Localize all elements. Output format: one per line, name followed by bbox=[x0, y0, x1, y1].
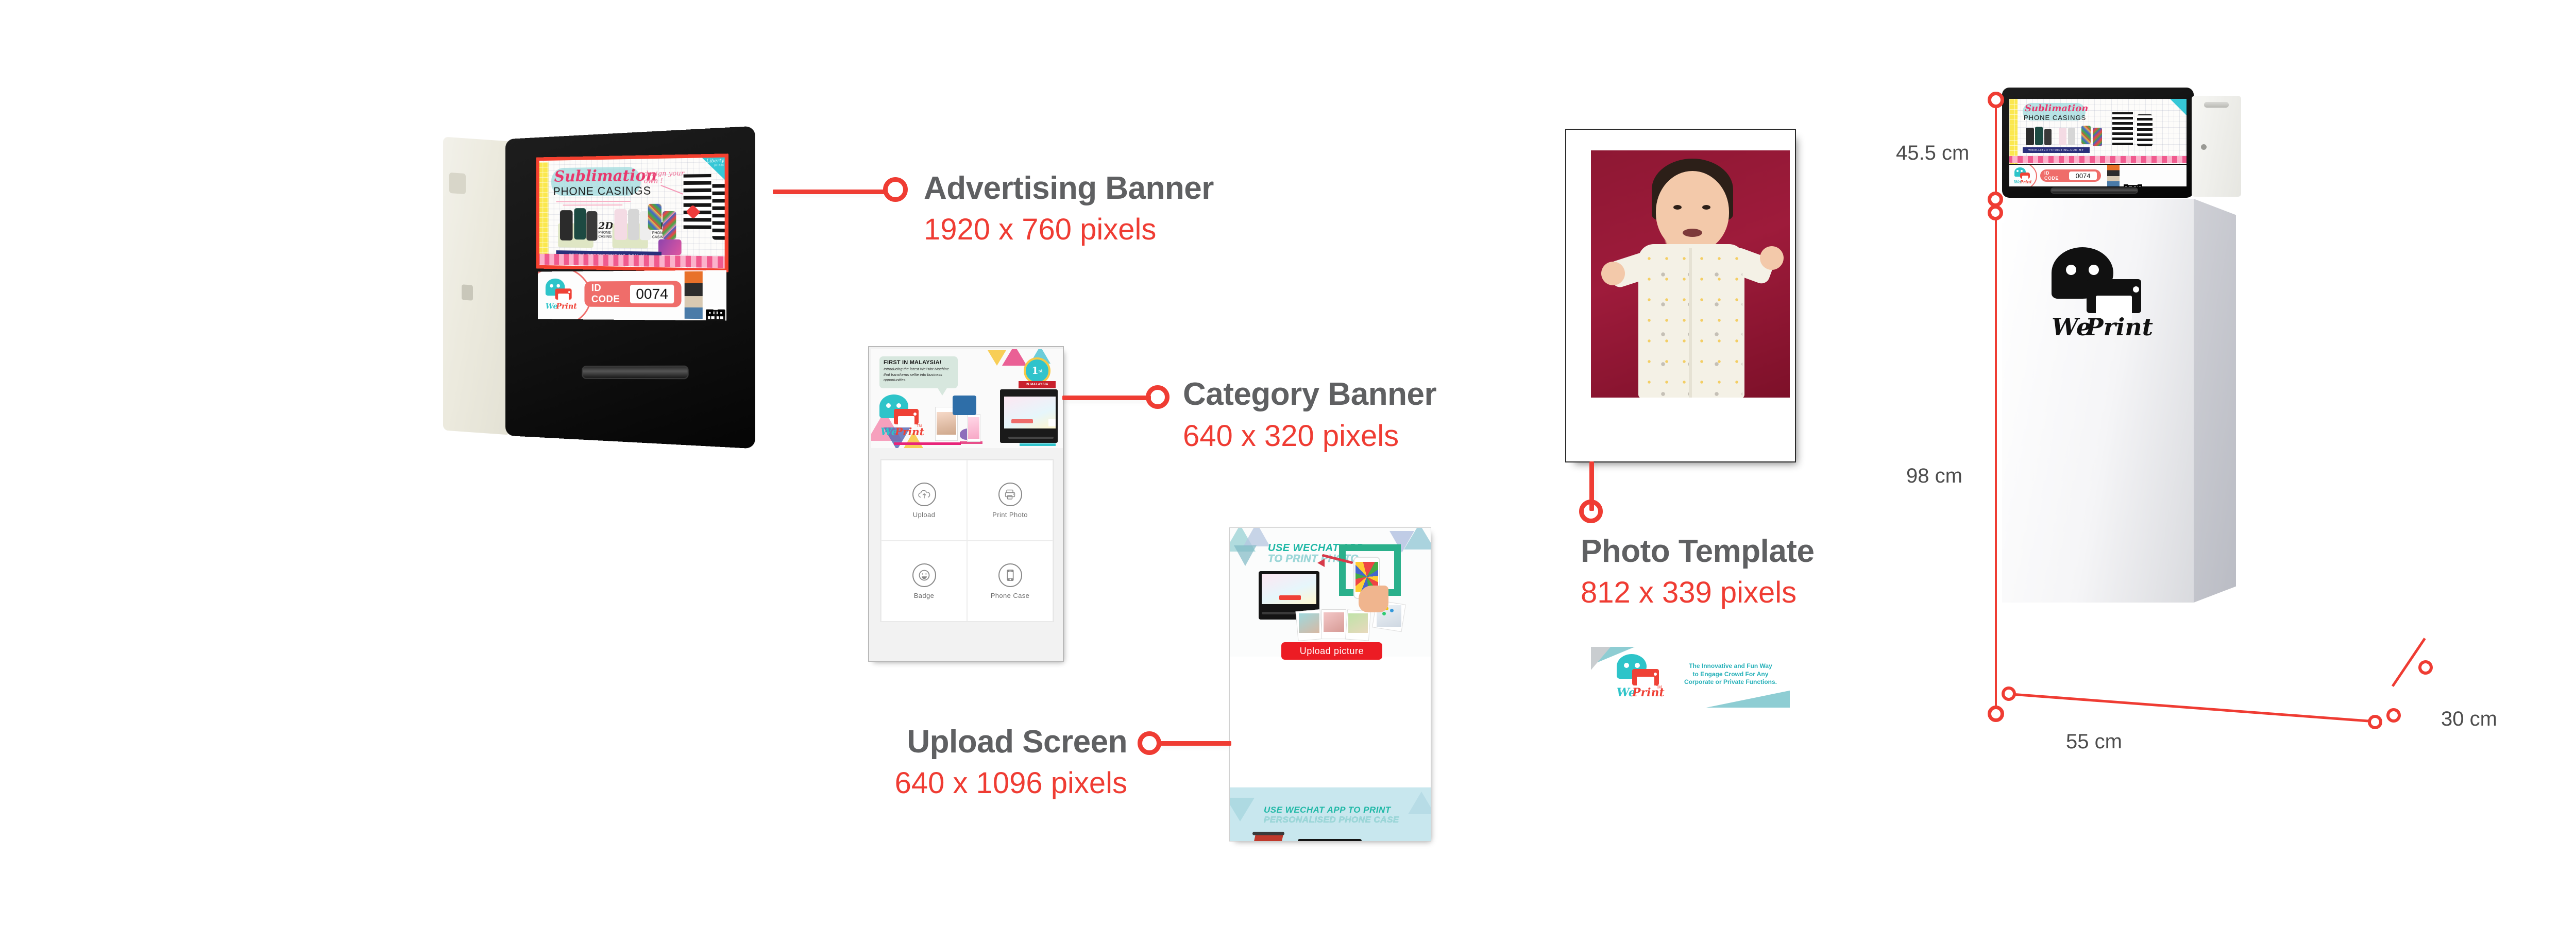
leader-ring-category-banner bbox=[1146, 385, 1170, 409]
ad-2d-line2: CASING bbox=[598, 235, 612, 239]
right-qr-code bbox=[2123, 183, 2143, 186]
diagram-canvas: Liberty prints Sublimation PHONE CASINGS… bbox=[0, 0, 2576, 927]
right-kiosk-status-bar: We Print ID CODE 0074 bbox=[2009, 165, 2187, 186]
left-kiosk-lock bbox=[462, 284, 473, 301]
right-kiosk: Sublimation PHONE CASINGS WWW.LIBERTYPRI… bbox=[1999, 88, 2329, 736]
printer-icon bbox=[998, 483, 1022, 506]
weprint-logo-template: We Print TM bbox=[1615, 654, 1666, 701]
photo-template-tagline: The Innovative and Fun Way to Engage Cro… bbox=[1677, 662, 1784, 686]
id-code-pill: ID CODE 0074 bbox=[584, 281, 681, 307]
left-kiosk: Liberty prints Sublimation PHONE CASINGS… bbox=[443, 133, 773, 442]
category-tile-label: Upload bbox=[913, 511, 936, 519]
sample-photo-strip bbox=[685, 271, 703, 319]
callout-dims-category-banner: 640 x 320 pixels bbox=[1183, 421, 1399, 451]
upload-bottom-kiosk bbox=[1298, 839, 1362, 842]
callout-dims-advertising-banner: 1920 x 760 pixels bbox=[924, 215, 1156, 245]
tagline-line-3: Corporate or Private Functions. bbox=[1677, 678, 1784, 686]
liberty-brand-label: Liberty prints bbox=[702, 159, 724, 167]
dimline-vertical bbox=[1995, 99, 1997, 713]
cabinet-weprint-logo: We Print bbox=[2048, 247, 2149, 350]
right-id-code-value: 0074 bbox=[2069, 171, 2097, 180]
leader-category-banner bbox=[1062, 396, 1151, 400]
weprint-print-status: Print bbox=[556, 302, 577, 311]
leader-ring-photo-template bbox=[1579, 500, 1603, 523]
right-screen-title-script: Sublimation bbox=[2025, 103, 2088, 114]
category-banner-body: Introducing the latest WePrint Machine t… bbox=[884, 367, 954, 383]
badge-sub: IN MALAYSIA bbox=[1026, 383, 1048, 386]
callout-title-advertising-banner: Advertising Banner bbox=[924, 173, 1214, 204]
dimring-top bbox=[1988, 92, 2004, 108]
upload-screen-poster: USE WECHAT APP TO PRINT PHOTO bbox=[1229, 527, 1431, 842]
right-screen-url: WWW.LIBERTYPRINTING.COM.MY bbox=[2023, 147, 2090, 153]
id-code-value: 0074 bbox=[630, 285, 674, 304]
dimring-bottom bbox=[1988, 706, 2004, 722]
category-banner-artwork: FIRST IN MALAYSIA! Introducing the lates… bbox=[871, 349, 1063, 448]
category-tile-label: Phone Case bbox=[991, 592, 1030, 599]
liberty-brand-text: Liberty bbox=[702, 159, 724, 164]
weprint-tm-template: TM bbox=[1656, 685, 1662, 690]
tagline-line-1: The Innovative and Fun Way bbox=[1677, 662, 1784, 671]
left-kiosk-status-bar: We Print ID CODE 0074 bbox=[538, 270, 726, 320]
dimring-width-right bbox=[2368, 715, 2382, 729]
dimring-depth-top bbox=[2418, 660, 2433, 675]
dimring-width-left bbox=[2002, 686, 2016, 701]
category-screen-panel: FIRST IN MALAYSIA! Introducing the lates… bbox=[868, 346, 1064, 662]
right-kiosk-print-slot bbox=[2050, 187, 2138, 194]
qr-code bbox=[705, 307, 726, 321]
lockbox-handle bbox=[2204, 102, 2229, 108]
first-in-malaysia-badge: 1 st bbox=[1024, 357, 1050, 384]
right-screen-title-caps: PHONE CASINGS bbox=[2024, 114, 2086, 122]
phone-icon bbox=[998, 563, 1022, 587]
right-screen-url-text: WWW.LIBERTYPRINTING.COM.MY bbox=[2028, 149, 2084, 152]
weprint-tm-category: TM bbox=[917, 424, 922, 428]
upload-bottom-head-line2: PERSONALISED PHONE CASE bbox=[1264, 815, 1399, 825]
upload-picture-label: Upload picture bbox=[1300, 646, 1364, 657]
category-tile-print-photo[interactable]: Print Photo bbox=[967, 460, 1053, 541]
leader-upload-screen bbox=[1159, 741, 1231, 746]
ad-title-script: Sublimation bbox=[554, 166, 657, 185]
id-code-label: ID CODE bbox=[591, 283, 625, 305]
callout-dims-upload-screen: 640 x 1096 pixels bbox=[886, 768, 1127, 798]
category-tile-grid: Upload Print Photo bbox=[880, 459, 1054, 622]
category-tile-upload[interactable]: Upload bbox=[881, 460, 967, 541]
category-tile-phone-case[interactable]: Phone Case bbox=[967, 541, 1053, 622]
right-kiosk-lockbox bbox=[2192, 96, 2241, 197]
category-tile-badge[interactable]: Badge bbox=[881, 541, 967, 622]
upload-bottom-head-line1: USE WECHAT APP TO PRINT bbox=[1264, 805, 1391, 815]
dimring-depth-bottom bbox=[2386, 708, 2401, 723]
weprint-print-right: Print bbox=[2020, 179, 2032, 184]
dimring-mid-lower bbox=[1988, 205, 2003, 220]
weprint-logo-right-screen: We Print bbox=[2013, 167, 2034, 185]
dim-label-height-upper: 45.5 cm bbox=[1896, 142, 1969, 165]
right-kiosk-cabinet-side bbox=[2194, 199, 2236, 603]
advertising-banner-artwork: Liberty prints Sublimation PHONE CASINGS… bbox=[538, 156, 726, 270]
callout-title-photo-template: Photo Template bbox=[1581, 536, 1814, 568]
tagline-line-2: to Engage Crowd For Any bbox=[1677, 671, 1784, 679]
leader-ring-advertising-banner bbox=[883, 177, 908, 202]
weprint-logo-category: We Print TM bbox=[878, 394, 925, 437]
callout-dims-photo-template: 812 x 339 pixels bbox=[1581, 578, 1797, 608]
cabinet-logo-print: Print bbox=[2086, 313, 2153, 341]
weprint-logo-status: We Print bbox=[545, 278, 577, 312]
print-slot bbox=[582, 366, 688, 379]
leader-ring-upload-screen bbox=[1138, 731, 1161, 755]
leader-advertising-banner bbox=[773, 190, 887, 194]
category-tile-label: Print Photo bbox=[992, 511, 1028, 519]
right-id-code-label: ID CODE bbox=[2044, 170, 2064, 181]
right-kiosk-screen-artwork: Sublimation PHONE CASINGS WWW.LIBERTYPRI… bbox=[2009, 99, 2187, 164]
ad-2d-label: 2D bbox=[598, 220, 613, 232]
badge-rank: 1 bbox=[1031, 365, 1038, 376]
callout-title-upload-screen: Upload Screen bbox=[907, 726, 1127, 758]
smiley-icon bbox=[912, 563, 936, 587]
badge-suffix: st bbox=[1039, 368, 1043, 373]
dim-label-height-lower: 98 cm bbox=[1906, 465, 1962, 488]
dim-label-width: 55 cm bbox=[2066, 730, 2122, 753]
right-id-code-pill: ID CODE 0074 bbox=[2040, 169, 2101, 182]
callout-title-category-banner: Category Banner bbox=[1183, 379, 1436, 410]
ad-title-caps: PHONE CASINGS bbox=[553, 184, 651, 198]
category-tile-label: Badge bbox=[914, 592, 935, 599]
printed-phone-case-2 bbox=[1391, 841, 1414, 842]
cloud-upload-icon bbox=[912, 483, 936, 506]
liberty-brand-sub: prints bbox=[702, 164, 724, 167]
photo-template-card: We Print TM The Innovative and Fun Way t… bbox=[1565, 129, 1796, 462]
ad-2d-line1: PHONE bbox=[598, 231, 612, 235]
badge-ribbon: IN MALAYSIA bbox=[1019, 381, 1056, 388]
upload-picture-button[interactable]: Upload picture bbox=[1281, 642, 1382, 660]
dim-label-depth: 30 cm bbox=[2441, 708, 2497, 731]
category-banner-headline: FIRST IN MALAYSIA! bbox=[884, 359, 942, 366]
photo-template-footer: We Print TM The Innovative and Fun Way t… bbox=[1591, 647, 1790, 708]
left-kiosk-latch-top bbox=[449, 173, 466, 194]
lockbox-keyhole bbox=[2201, 144, 2207, 150]
photo-template-image bbox=[1591, 150, 1790, 398]
